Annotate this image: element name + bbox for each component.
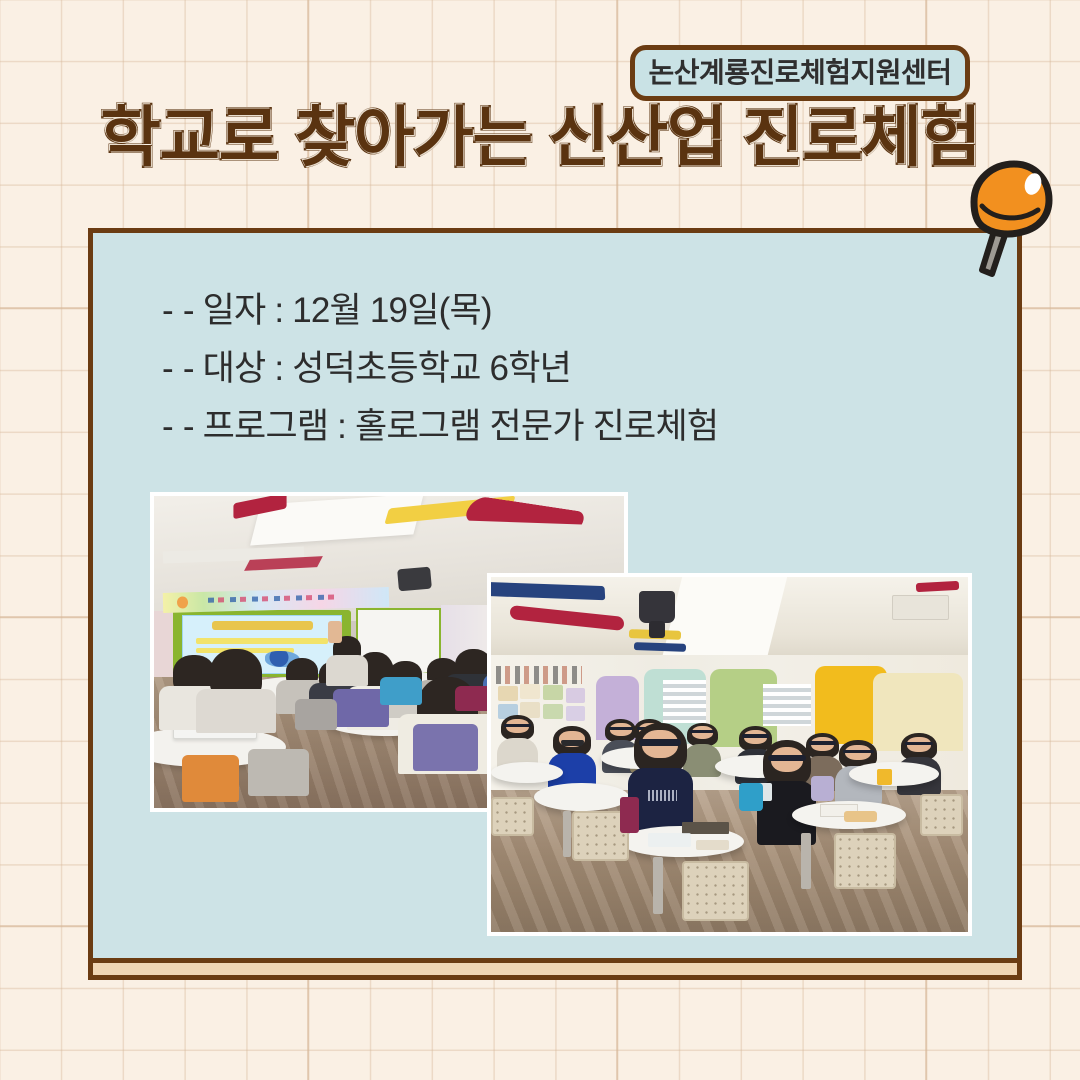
ceiling-projector <box>639 591 675 623</box>
slide-text-line <box>196 638 329 643</box>
chair <box>413 724 479 771</box>
hologram-glasses-icon <box>742 734 769 737</box>
wall-lettering <box>496 666 582 684</box>
chair-accent-lilac <box>811 776 835 801</box>
window-blind <box>663 680 706 723</box>
hologram-glasses-icon <box>809 741 836 744</box>
student-head <box>806 733 839 758</box>
pushpin-decoration <box>948 158 1056 280</box>
list-item-text: - 프로그램 : 홀로그램 전문가 진로체험 <box>183 409 718 444</box>
mosaic-tile <box>566 706 586 721</box>
chair-accent-blue <box>739 783 763 811</box>
organization-badge: 논산계룡진로체험지원센터 <box>630 45 970 101</box>
list-item: - - 일자 : 12월 19일(목) <box>162 293 862 328</box>
mosaic-tile <box>498 686 518 701</box>
table-leg <box>653 857 663 914</box>
hologram-glasses-icon <box>504 724 531 727</box>
mosaic-tile <box>566 688 586 703</box>
list-item-text: - 일자 : 12월 19일(목) <box>183 293 492 328</box>
mosaic-tile <box>520 684 540 700</box>
table-leg <box>563 811 572 857</box>
ceiling-stripe-navy-small <box>634 642 687 652</box>
list-item: - - 프로그램 : 홀로그램 전문가 진로체험 <box>162 409 862 444</box>
chair <box>248 749 309 796</box>
page-title: 학교로 찾아가는 신산업 진로체험 <box>0 104 1080 170</box>
student-head <box>901 733 937 760</box>
student-head <box>634 723 686 773</box>
chair-accent-magenta <box>620 797 639 833</box>
hologram-glasses-icon <box>905 742 934 745</box>
student-torso <box>683 744 721 777</box>
presenter-body <box>326 655 368 686</box>
student-head <box>605 719 636 742</box>
chair <box>834 833 896 890</box>
hologram-glasses-icon <box>639 739 681 745</box>
hologram-glasses-icon <box>609 727 634 730</box>
student-head <box>501 715 534 740</box>
slide-title-block <box>212 621 313 630</box>
list-item: - - 대상 : 성덕초등학교 6학년 <box>162 351 862 386</box>
list-item-text: - 대상 : 성덕초등학교 6학년 <box>183 351 571 386</box>
list-bullet-dash: - <box>162 409 173 444</box>
hoodie-print <box>648 790 677 801</box>
table-item-bag <box>648 833 691 847</box>
student-head <box>687 723 718 746</box>
pushpin-icon <box>948 158 1056 280</box>
list-bullet-dash: - <box>162 293 173 328</box>
wall-ac-unit <box>892 595 949 620</box>
table-item-snack <box>696 840 729 851</box>
hologram-glasses-icon <box>690 730 715 733</box>
window-blind <box>763 684 811 727</box>
student <box>687 723 718 776</box>
presenter-arm <box>328 621 342 643</box>
chair <box>491 797 534 836</box>
hologram-glasses-icon <box>843 750 874 754</box>
organization-badge-label: 논산계룡진로체험지원센터 <box>648 59 951 87</box>
chair <box>682 861 749 921</box>
table-item-drink <box>877 769 891 785</box>
chair <box>295 699 337 730</box>
student-head <box>553 726 591 756</box>
chair <box>920 794 963 837</box>
mosaic-tile <box>543 685 563 700</box>
table-item-snack <box>844 811 877 822</box>
mosaic-tile <box>543 704 563 719</box>
face-mask <box>561 740 584 747</box>
chair <box>182 755 238 802</box>
hologram-glasses-icon <box>768 755 806 761</box>
chair <box>380 677 422 705</box>
student-body <box>196 689 276 733</box>
table <box>491 762 563 783</box>
list-bullet-dash: - <box>162 351 173 386</box>
table-leg <box>801 833 811 890</box>
student <box>634 723 686 837</box>
hologram-glasses-photo <box>487 573 972 936</box>
ceiling-projector <box>398 566 433 591</box>
event-details-list: - - 일자 : 12월 19일(목) - - 대상 : 성덕초등학교 6학년 … <box>162 293 862 467</box>
photo-content <box>491 577 968 932</box>
student-head <box>763 740 811 785</box>
